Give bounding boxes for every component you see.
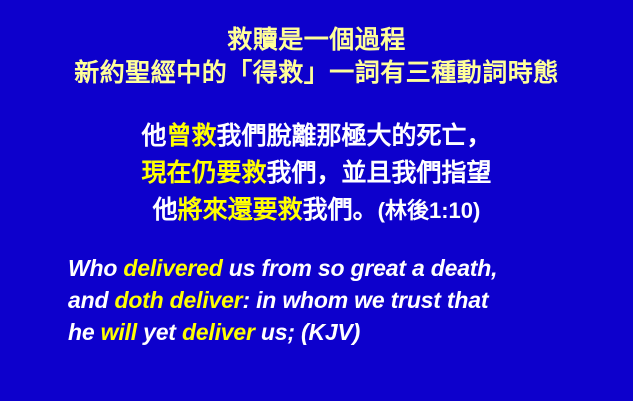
cn-l2-part2: 我們，並且我們指望 [267, 159, 492, 187]
en-l2-part1: and [68, 287, 114, 313]
english-scripture-line-3: he will yet deliver us; (KJV) [68, 316, 588, 348]
cn-l2-highlight-present-tense: 現在仍要救 [141, 159, 266, 187]
en-l1-part2: us from so great a death, [223, 255, 498, 281]
cn-l3-part1: 他 [153, 196, 178, 224]
chinese-scripture-line-3: 他將來還要救我們。(林後1:10) [0, 192, 633, 229]
cn-l1-part1: 他 [141, 122, 166, 150]
chinese-scripture-line-2: 現在仍要救我們，並且我們指望 [0, 155, 633, 192]
en-l3-part3: us; (KJV) [255, 319, 360, 345]
title-line-2: 新約聖經中的「得救」一詞有三種動詞時態 [0, 57, 633, 90]
en-l2-part2: : in whom we trust that [242, 287, 488, 313]
english-scripture-line-1: Who delivered us from so great a death, [68, 252, 588, 284]
cn-l3-part2: 我們。 [303, 196, 378, 224]
slide-title-block: 救贖是一個過程 新約聖經中的「得救」一詞有三種動詞時態 [0, 24, 633, 90]
en-l1-highlight-delivered: delivered [123, 255, 222, 281]
chinese-scripture-line-1: 他曾救我們脫離那極大的死亡， [0, 118, 633, 155]
cn-l1-highlight-past-tense: 曾救 [166, 122, 216, 150]
en-l3-part1: he [68, 319, 101, 345]
en-l3-highlight-deliver: deliver [182, 319, 255, 345]
en-l1-part1: Who [68, 255, 123, 281]
english-scripture-block: Who delivered us from so great a death, … [68, 252, 588, 348]
cn-l1-part2: 我們脫離那極大的死亡， [217, 122, 492, 150]
en-l2-highlight-doth-deliver: doth deliver [114, 287, 242, 313]
scripture-reference: (林後1:10) [378, 198, 481, 223]
slide-canvas: 救贖是一個過程 新約聖經中的「得救」一詞有三種動詞時態 他曾救我們脫離那極大的死… [0, 0, 633, 401]
en-l3-part2: yet [137, 319, 182, 345]
cn-l3-highlight-future-tense: 將來還要救 [178, 196, 303, 224]
english-scripture-line-2: and doth deliver: in whom we trust that [68, 284, 588, 316]
chinese-scripture-block: 他曾救我們脫離那極大的死亡， 現在仍要救我們，並且我們指望 他將來還要救我們。(… [0, 118, 633, 229]
en-l3-highlight-will: will [101, 319, 137, 345]
title-line-1: 救贖是一個過程 [0, 24, 633, 57]
